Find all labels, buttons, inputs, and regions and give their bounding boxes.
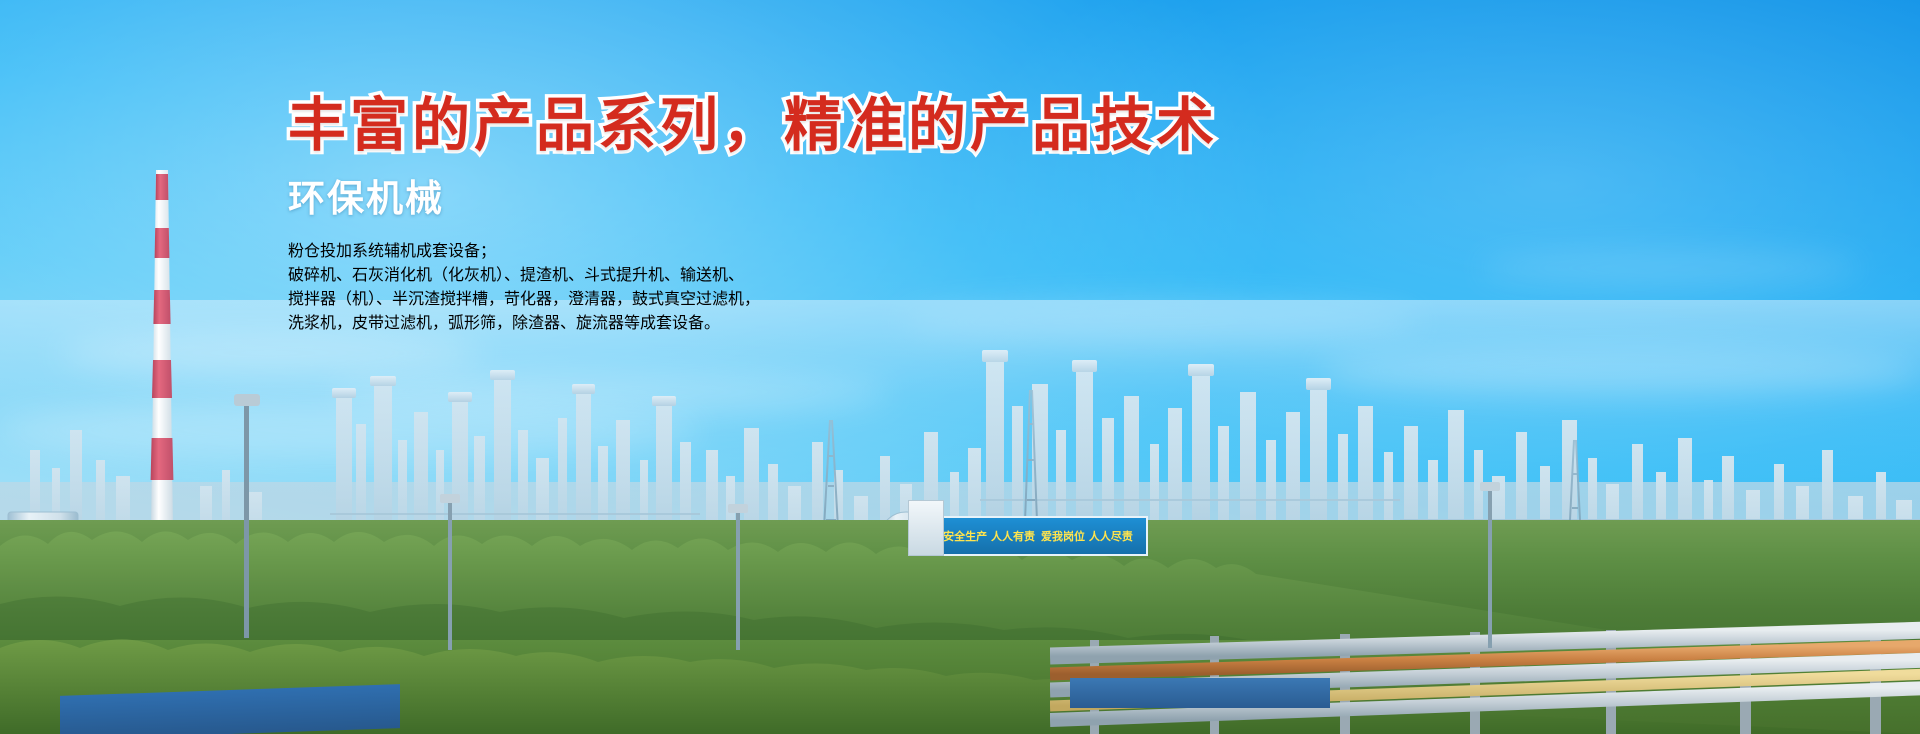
banner-subheading: 环保机械 <box>288 180 1228 217</box>
cloud <box>1480 250 1860 286</box>
sign-post-panel <box>908 500 944 556</box>
description-line: 洗浆机，皮带过滤机，弧形筛，除渣器、旋流器等成套设备。 <box>288 309 1228 333</box>
banner-headline: 丰富的产品系列，精准的产品技术 <box>288 96 1228 154</box>
hero-banner: 安全生产 人人有责 爱我岗位 人人尽责 丰富的产品系列，精准的产品技术 环保机械… <box>0 0 1920 734</box>
site-banner-sign: 安全生产 人人有责 爱我岗位 人人尽责 <box>928 516 1148 556</box>
light-pole <box>1478 478 1504 648</box>
description-line: 搅拌器（机）、半沉渣搅拌槽，苛化器，澄清器，鼓式真空过滤机， <box>288 285 1228 309</box>
site-banner-text-2: 爱我岗位 人人尽责 <box>1041 528 1133 544</box>
banner-copy: 丰富的产品系列，精准的产品技术 环保机械 粉仓投加系统辅机成套设备； 破碎机、石… <box>288 96 1228 349</box>
light-pole <box>230 388 264 638</box>
striped-chimney <box>140 170 184 530</box>
light-pole <box>726 500 752 650</box>
light-pole <box>438 490 464 650</box>
description-line: 破碎机、石灰消化机（化灰机）、提渣机、斗式提升机、输送机、 <box>288 261 1228 285</box>
blue-roof-building-2 <box>1070 678 1330 708</box>
description-line: 粉仓投加系统辅机成套设备； <box>288 237 1228 261</box>
site-banner-text-1: 安全生产 人人有责 <box>943 528 1035 544</box>
